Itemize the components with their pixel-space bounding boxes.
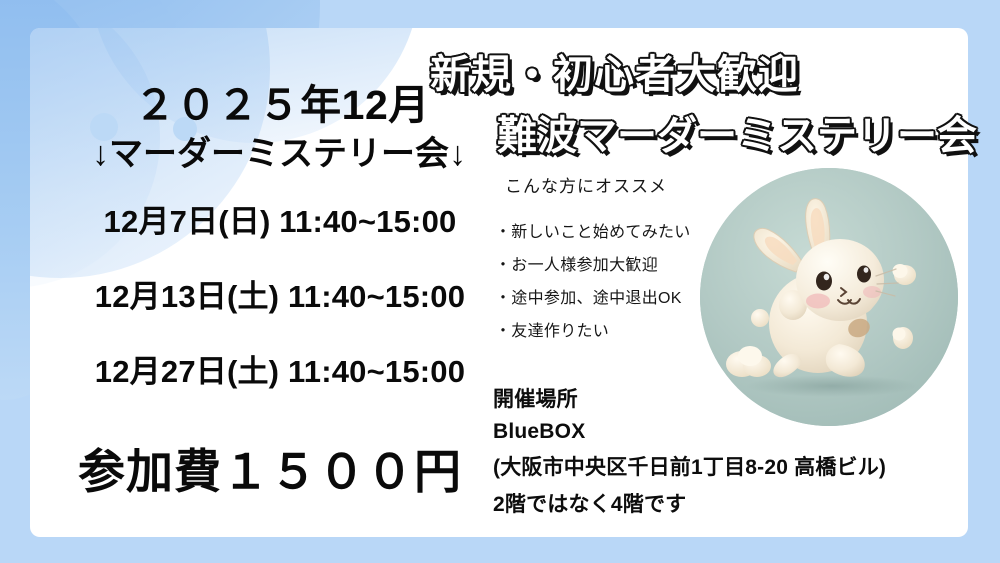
event-type-heading: ↓マーダーミステリー会↓ <box>38 126 520 175</box>
rabbit-illustration <box>700 168 958 426</box>
venue-address: (大阪市中央区千日前1丁目8-20 高橋ビル) <box>493 451 973 481</box>
headline-event-name: 難波マーダーミステリー会 <box>497 103 997 161</box>
left-column: ２０２５年12月 ↓マーダーミステリー会↓ 12月7日(日) 11:40~15:… <box>30 28 530 537</box>
venue-name: BlueBOX <box>493 420 973 444</box>
jumping-rabbit-icon <box>700 168 958 426</box>
schedule-row: 12月7日(日) 11:40~15:00 <box>30 196 530 241</box>
schedule-row: 12月13日(土) 11:40~15:00 <box>30 271 530 316</box>
participation-fee: 参加費１５００円 <box>30 433 510 502</box>
venue-block: 開催場所 BlueBOX (大阪市中央区千日前1丁目8-20 高橋ビル) 2階で… <box>493 383 973 525</box>
poster-content: ２０２５年12月 ↓マーダーミステリー会↓ 12月7日(日) 11:40~15:… <box>0 0 1000 563</box>
venue-floor-note: 2階ではなく4階です <box>493 488 973 518</box>
schedule-list: 12月7日(日) 11:40~15:00 12月13日(土) 11:40~15:… <box>30 196 530 421</box>
schedule-row: 12月27日(土) 11:40~15:00 <box>30 346 530 391</box>
headline-welcome: 新規・初心者大歓迎 <box>430 42 860 100</box>
poster-canvas: ２０２５年12月 ↓マーダーミステリー会↓ 12月7日(日) 11:40~15:… <box>0 0 1000 563</box>
recommend-heading: こんな方にオススメ <box>505 172 667 197</box>
